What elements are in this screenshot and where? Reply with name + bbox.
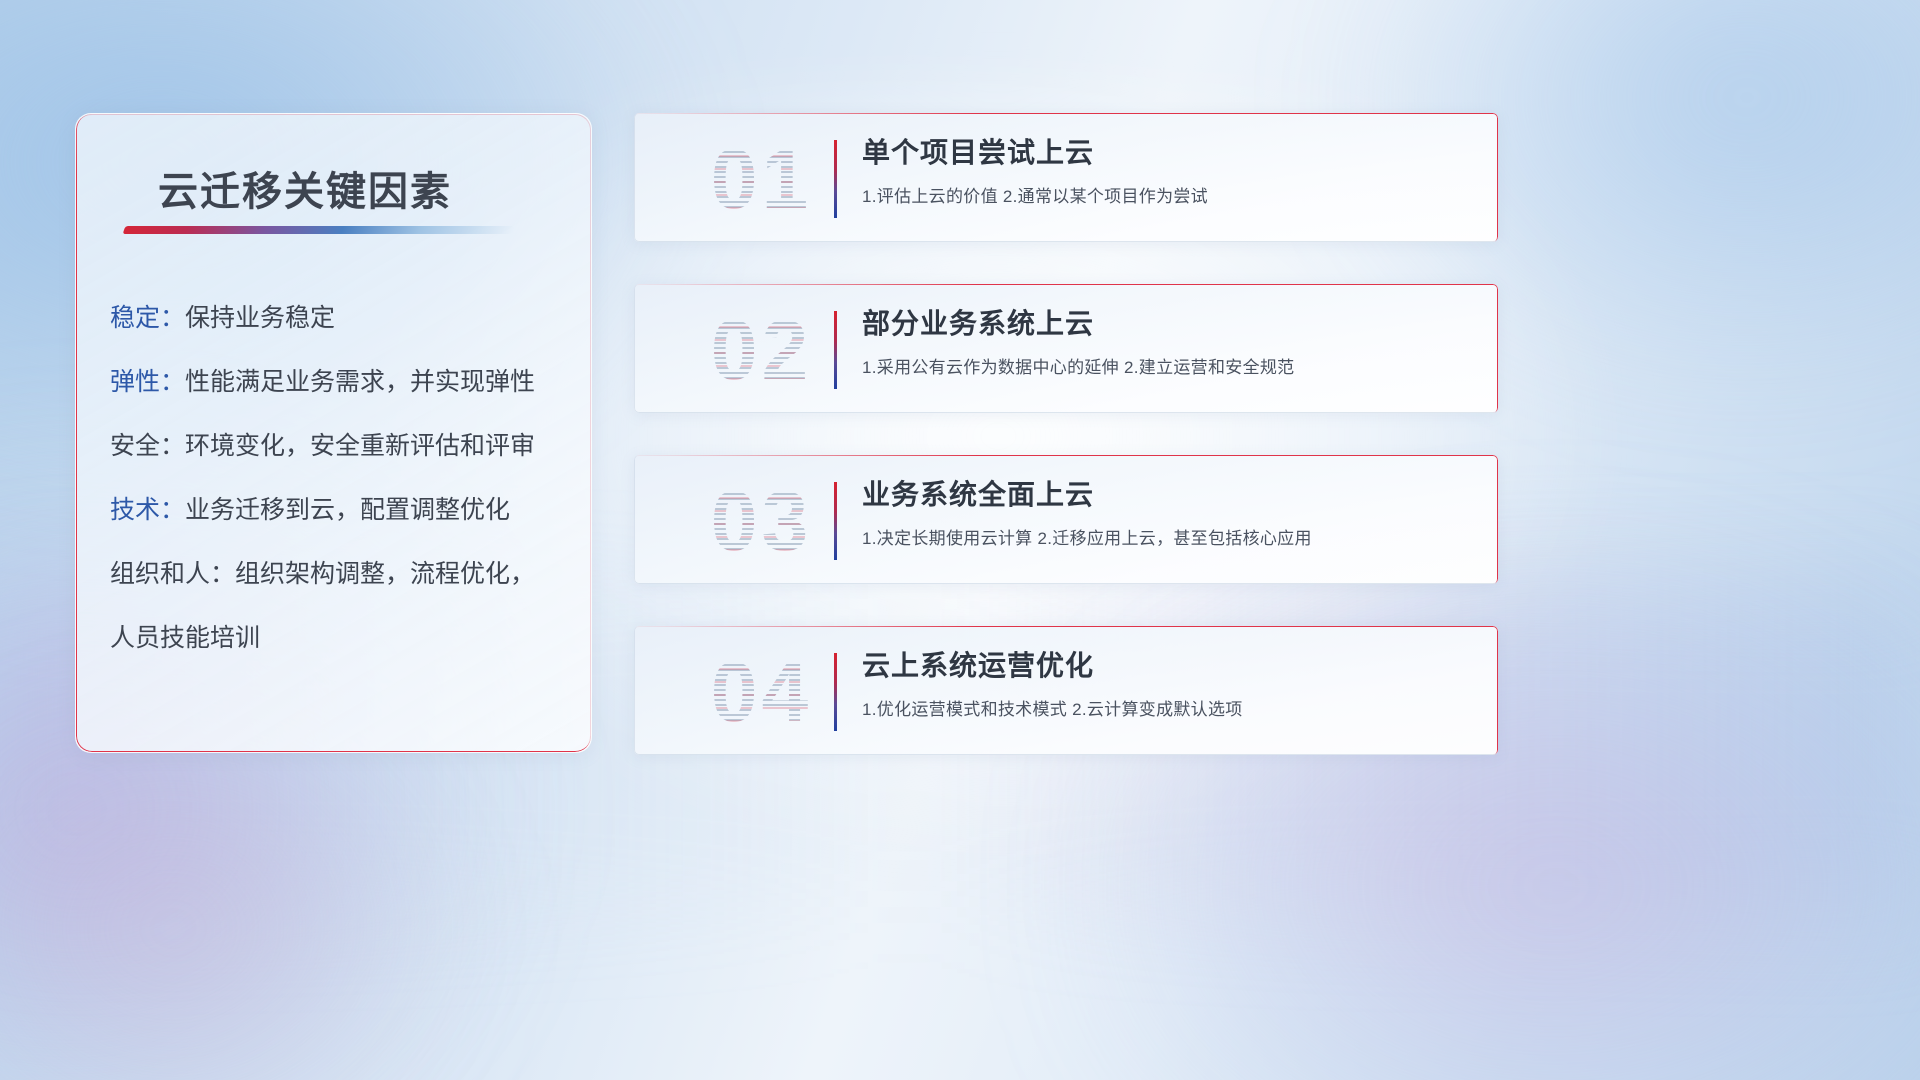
stage-number-tint: 01 [674, 131, 849, 227]
factor-text: 性能满足业务需求，并实现弹性 [185, 370, 535, 395]
stage-divider-bar [834, 311, 837, 389]
stage-title: 单个项目尝试上云 [862, 135, 1474, 170]
list-item: 安全： 环境变化，安全重新评估和评审 [110, 434, 573, 459]
stage-card-01[interactable]: 01 01 单个项目尝试上云 1.评估上云的价值 2.通常以某个项目作为尝试 [634, 113, 1498, 242]
stage-number-tint: 02 [674, 302, 849, 398]
stage-divider-bar [834, 653, 837, 731]
stage-number-tint: 04 [674, 644, 849, 740]
factor-text-continuation: 人员技能培训 [110, 626, 260, 651]
stage-subtitle: 1.优化运营模式和技术模式 2.云计算变成默认选项 [862, 695, 1474, 720]
stage-card-04[interactable]: 04 04 云上系统运营优化 1.优化运营模式和技术模式 2.云计算变成默认选项 [634, 626, 1498, 755]
list-item-continuation: 人员技能培训 [110, 626, 573, 651]
stage-subtitle: 1.采用公有云作为数据中心的延伸 2.建立运营和安全规范 [862, 353, 1474, 378]
list-item: 弹性： 性能满足业务需求，并实现弹性 [110, 370, 573, 395]
stage-title: 云上系统运营优化 [862, 648, 1474, 683]
stage-divider-bar [834, 140, 837, 218]
key-factors-panel: 云迁移关键因素 稳定： 保持业务稳定 弹性： 性能满足业务需求，并实现弹性 安全… [75, 113, 592, 753]
stage-card-03[interactable]: 03 03 业务系统全面上云 1.决定长期使用云计算 2.迁移应用上云，甚至包括… [634, 455, 1498, 584]
factor-text: 保持业务稳定 [185, 306, 335, 331]
stage-card-body: 部分业务系统上云 1.采用公有云作为数据中心的延伸 2.建立运营和安全规范 [862, 306, 1474, 378]
stage-divider-bar [834, 482, 837, 560]
stage-title: 业务系统全面上云 [862, 477, 1474, 512]
factor-label: 稳定： [110, 306, 185, 331]
stage-number-tint: 03 [674, 473, 849, 569]
stage-title: 部分业务系统上云 [862, 306, 1474, 341]
factor-text: 业务迁移到云，配置调整优化 [185, 498, 510, 523]
stage-card-02[interactable]: 02 02 部分业务系统上云 1.采用公有云作为数据中心的延伸 2.建立运营和安… [634, 284, 1498, 413]
factor-label: 组织和人： [110, 562, 235, 587]
factor-label: 弹性： [110, 370, 185, 395]
list-item: 技术： 业务迁移到云，配置调整优化 [110, 498, 573, 523]
factor-label: 安全： [110, 434, 185, 459]
stage-card-body: 云上系统运营优化 1.优化运营模式和技术模式 2.云计算变成默认选项 [862, 648, 1474, 720]
stage-subtitle: 1.评估上云的价值 2.通常以某个项目作为尝试 [862, 182, 1474, 207]
slide-stage: 云迁移关键因素 稳定： 保持业务稳定 弹性： 性能满足业务需求，并实现弹性 安全… [0, 0, 1920, 1080]
page-title: 云迁移关键因素 [158, 159, 452, 217]
factor-text: 环境变化，安全重新评估和评审 [185, 434, 535, 459]
title-underline-accent [123, 226, 516, 234]
list-item: 稳定： 保持业务稳定 [110, 306, 573, 331]
list-item: 组织和人： 组织架构调整，流程优化， [110, 562, 573, 587]
key-factors-list: 稳定： 保持业务稳定 弹性： 性能满足业务需求，并实现弹性 安全： 环境变化，安… [110, 306, 573, 651]
factor-label: 技术： [110, 498, 185, 523]
factor-text: 组织架构调整，流程优化， [235, 562, 535, 587]
stage-card-body: 单个项目尝试上云 1.评估上云的价值 2.通常以某个项目作为尝试 [862, 135, 1474, 207]
stage-subtitle: 1.决定长期使用云计算 2.迁移应用上云，甚至包括核心应用 [862, 524, 1474, 549]
stage-card-body: 业务系统全面上云 1.决定长期使用云计算 2.迁移应用上云，甚至包括核心应用 [862, 477, 1474, 549]
cloud-migration-stages: 01 01 单个项目尝试上云 1.评估上云的价值 2.通常以某个项目作为尝试 0… [634, 113, 1498, 755]
